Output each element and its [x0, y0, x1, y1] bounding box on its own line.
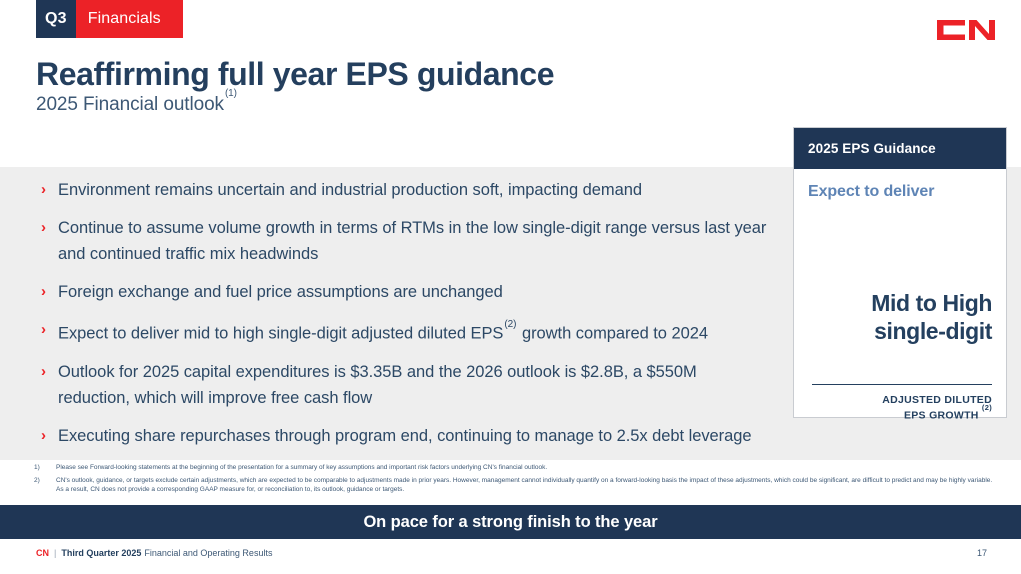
footer-separator: |: [54, 548, 56, 558]
header-badge: Q3 Financials: [36, 0, 183, 38]
footer-subtitle: Financial and Operating Results: [144, 548, 272, 558]
footnote-text: Please see Forward-looking statements at…: [56, 463, 994, 473]
summary-banner: On pace for a strong finish to the year: [0, 505, 1021, 539]
list-item-footnote-ref: (2): [504, 319, 516, 330]
list-item: › Continue to assume volume growth in te…: [38, 215, 768, 267]
eps-guidance-card: 2025 EPS Guidance Expect to deliver Mid …: [793, 127, 1007, 418]
footnote-number: 2): [34, 476, 56, 486]
eps-guidance-caption-line2: EPS GROWTH: [904, 410, 979, 422]
list-item: › Environment remains uncertain and indu…: [38, 177, 768, 203]
footnotes: 1) Please see Forward-looking statements…: [34, 463, 994, 498]
eps-guidance-card-header: 2025 EPS Guidance: [794, 128, 1006, 169]
footnote-number: 1): [34, 463, 56, 473]
chevron-right-icon: ›: [38, 423, 58, 449]
eps-guidance-caption: ADJUSTED DILUTED EPS GROWTH (2): [882, 393, 992, 423]
list-item-text: Outlook for 2025 capital expenditures is…: [58, 359, 768, 411]
eps-guidance-card-body: Expect to deliver Mid to High single-dig…: [794, 169, 1006, 417]
eps-guidance-caption-line2-wrap: EPS GROWTH (2): [882, 407, 992, 423]
page-subtitle: 2025 Financial outlook(1): [36, 94, 237, 116]
badge-label: Financials: [76, 0, 183, 38]
slide: Q3 Financials Reaffirming full year EPS …: [0, 0, 1021, 574]
cn-logo-icon: [935, 16, 997, 44]
list-item-text-before: Expect to deliver mid to high single-dig…: [58, 325, 503, 343]
chevron-right-icon: ›: [38, 215, 58, 241]
footnote-item: 2) CN's outlook, guidance, or targets ex…: [34, 476, 994, 495]
page-subtitle-footnote-ref: (1): [225, 88, 237, 99]
list-item-text: Executing share repurchases through prog…: [58, 423, 768, 449]
list-item-text: Environment remains uncertain and indust…: [58, 177, 768, 203]
badge-quarter: Q3: [36, 0, 76, 38]
bullet-list: › Environment remains uncertain and indu…: [38, 177, 768, 461]
list-item-text-after: growth compared to 2024: [522, 325, 708, 343]
list-item: › Expect to deliver mid to high single-d…: [38, 317, 768, 347]
footnote-text: CN's outlook, guidance, or targets exclu…: [56, 476, 994, 495]
page-subtitle-text: 2025 Financial outlook: [36, 94, 224, 115]
chevron-right-icon: ›: [38, 359, 58, 385]
eps-guidance-value-line1: Mid to High: [871, 290, 992, 318]
chevron-right-icon: ›: [38, 177, 58, 203]
list-item-text: Expect to deliver mid to high single-dig…: [58, 317, 768, 347]
eps-guidance-divider: [812, 384, 992, 385]
eps-guidance-kicker: Expect to deliver: [808, 183, 934, 201]
eps-guidance-caption-line1: ADJUSTED DILUTED: [882, 393, 992, 407]
page-title: Reaffirming full year EPS guidance: [36, 57, 554, 92]
list-item: › Foreign exchange and fuel price assump…: [38, 279, 768, 305]
chevron-right-icon: ›: [38, 279, 58, 305]
slide-footer: CN | Third Quarter 2025 Financial and Op…: [0, 539, 1021, 574]
list-item: › Executing share repurchases through pr…: [38, 423, 768, 449]
page-number: 17: [977, 548, 987, 558]
footer-quarter: Third Quarter 2025: [61, 548, 141, 558]
list-item-text: Continue to assume volume growth in term…: [58, 215, 768, 267]
footer-caption: CN | Third Quarter 2025 Financial and Op…: [36, 548, 272, 558]
list-item: › Outlook for 2025 capital expenditures …: [38, 359, 768, 411]
eps-guidance-value-line2: single-digit: [871, 318, 992, 346]
eps-guidance-value: Mid to High single-digit: [871, 290, 992, 345]
footer-cn-logo-icon: CN: [36, 548, 49, 558]
chevron-right-icon: ›: [38, 317, 58, 343]
list-item-text: Foreign exchange and fuel price assumpti…: [58, 279, 768, 305]
footnote-item: 1) Please see Forward-looking statements…: [34, 463, 994, 473]
eps-guidance-caption-footnote-ref: (2): [982, 403, 992, 412]
